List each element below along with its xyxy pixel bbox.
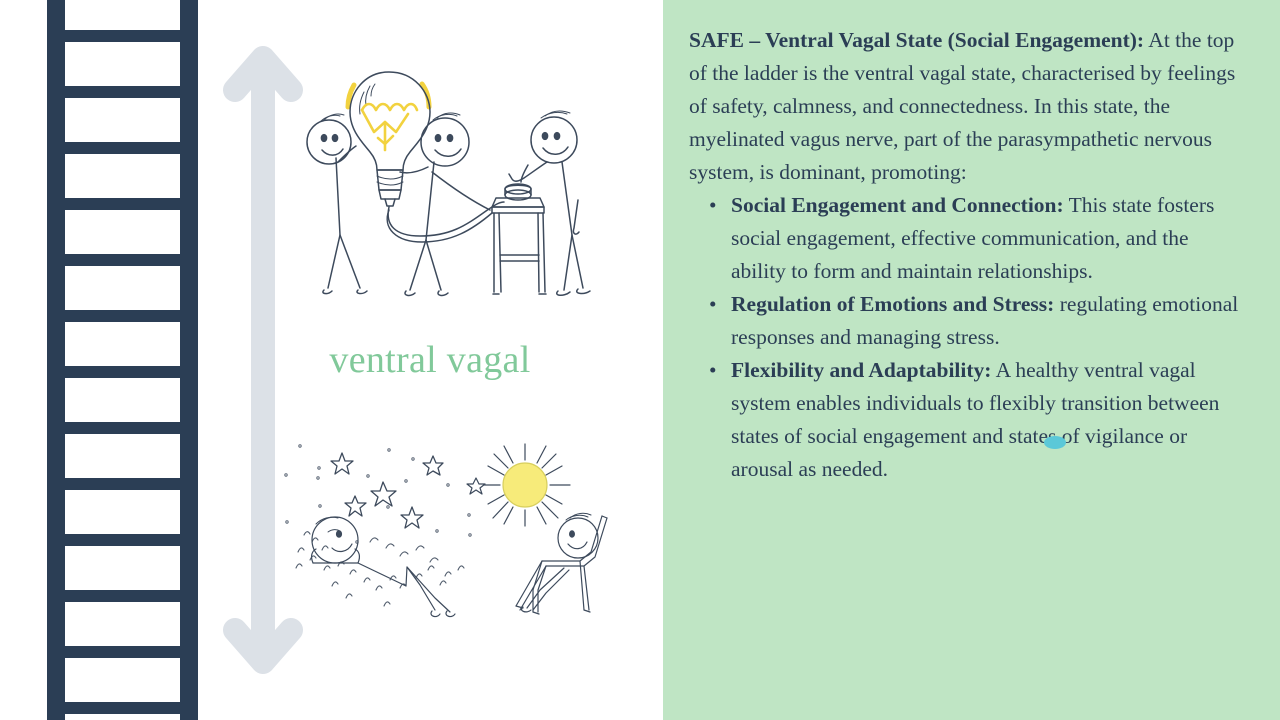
ladder-rung [47,198,198,210]
bullet-term: Regulation of Emotions and Stress: [731,292,1054,316]
slide-canvas: ventral vagal SAFE – Ventral Vagal State… [0,0,1280,720]
list-item: • Flexibility and Adaptability: A health… [689,354,1246,486]
ladder-rail-right [180,0,198,720]
illustration-rest-stars-sun [280,430,620,630]
ladder-rung [47,142,198,154]
panel-heading: SAFE – Ventral Vagal State (Social Engag… [689,28,1144,52]
ventral-vagal-label: ventral vagal [240,336,620,384]
ladder-rung [47,30,198,42]
list-item: • Social Engagement and Connection: This… [689,189,1246,288]
ladder-rung [47,310,198,322]
ladder-rung [47,534,198,546]
bullet-term: Flexibility and Adaptability: [731,358,991,382]
ladder-rung [47,86,198,98]
ladder-rung [47,590,198,602]
ladder-rung [47,422,198,434]
panel-intro-paragraph: SAFE – Ventral Vagal State (Social Engag… [689,24,1246,189]
bullet-term: Social Engagement and Connection: [731,193,1064,217]
ladder-rung [47,646,198,658]
teal-oval-mark [1044,436,1066,449]
bullet-glyph: • [709,354,717,387]
ladder-rail-left [47,0,65,720]
ladder-rung [47,702,198,714]
panel-bullet-list: • Social Engagement and Connection: This… [689,189,1246,486]
bullet-glyph: • [709,288,717,321]
ladder-rung [47,254,198,266]
info-panel: SAFE – Ventral Vagal State (Social Engag… [663,0,1280,720]
ladder-graphic [47,0,198,720]
ladder-rung [47,478,198,490]
list-item: • Regulation of Emotions and Stress: reg… [689,288,1246,354]
illustration-lightbulb-team [300,50,600,300]
ladder-rung [47,366,198,378]
bullet-glyph: • [709,189,717,222]
panel-body: SAFE – Ventral Vagal State (Social Engag… [689,24,1246,486]
